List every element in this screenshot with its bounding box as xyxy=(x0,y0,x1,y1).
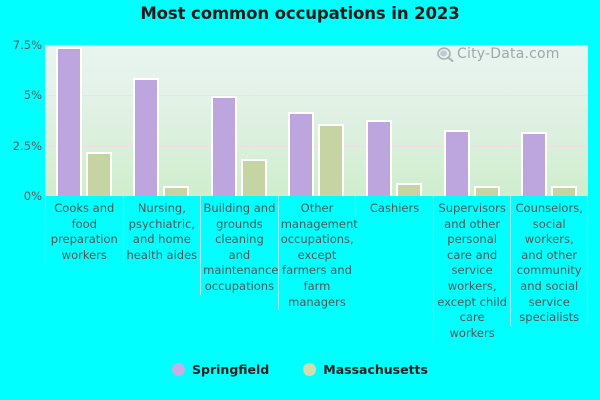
magnifier-icon xyxy=(437,47,454,62)
legend-swatch-icon xyxy=(172,363,185,376)
bar-massachusetts[interactable] xyxy=(551,186,577,196)
city-data-watermark: City-Data.com xyxy=(437,46,560,62)
y-axis-tick-label: 0% xyxy=(0,189,42,203)
chart-legend: SpringfieldMassachusetts xyxy=(0,362,600,377)
legend-swatch-icon xyxy=(303,363,316,376)
y-axis-tick-label: 7.5% xyxy=(0,38,42,52)
bar-springfield[interactable] xyxy=(366,120,392,197)
bar-group xyxy=(278,45,356,196)
bar-group xyxy=(123,45,201,196)
bar-group xyxy=(45,45,123,196)
x-axis-category-label: Cashiers xyxy=(355,196,433,217)
bar-springfield[interactable] xyxy=(211,96,237,196)
bar-springfield[interactable] xyxy=(521,132,547,196)
bar-springfield[interactable] xyxy=(56,47,82,196)
x-axis-categories: Cooks and food preparation workersNursin… xyxy=(45,196,588,346)
bar-massachusetts[interactable] xyxy=(163,186,189,196)
legend-item-massachusetts[interactable]: Massachusetts xyxy=(303,362,428,377)
x-axis-category-label: Nursing, psychiatric, and home health ai… xyxy=(123,196,201,263)
bar-massachusetts[interactable] xyxy=(474,186,500,196)
x-axis-category-label: Supervisors and other personal care and … xyxy=(433,196,511,341)
bar-springfield[interactable] xyxy=(133,78,159,196)
x-axis-category-label: Building and grounds cleaning and mainte… xyxy=(200,196,278,295)
plot-area xyxy=(45,45,588,196)
bar-massachusetts[interactable] xyxy=(241,159,267,196)
y-axis-tick-label: 2.5% xyxy=(0,139,42,153)
legend-label: Massachusetts xyxy=(323,362,428,377)
x-axis-category-label: Counselors, social workers, and other co… xyxy=(510,196,588,326)
y-axis: 7.5%5%2.5%0% xyxy=(0,45,42,196)
bar-massachusetts[interactable] xyxy=(396,183,422,196)
chart-title: Most common occupations in 2023 xyxy=(0,4,600,23)
bar-springfield[interactable] xyxy=(288,112,314,196)
x-axis-category-label: Cooks and food preparation workers xyxy=(45,196,123,263)
bar-group xyxy=(433,45,511,196)
bar-massachusetts[interactable] xyxy=(318,124,344,196)
y-axis-tick-label: 5% xyxy=(0,88,42,102)
watermark-text: City-Data.com xyxy=(457,46,560,62)
bar-massachusetts[interactable] xyxy=(86,152,112,196)
bar-springfield[interactable] xyxy=(444,130,470,196)
x-axis-category-label: Other management occupations, except far… xyxy=(278,196,356,310)
occupations-bar-chart: Most common occupations in 2023 7.5%5%2.… xyxy=(0,0,600,400)
bar-group xyxy=(200,45,278,196)
legend-label: Springfield xyxy=(192,362,269,377)
bar-group xyxy=(355,45,433,196)
legend-item-springfield[interactable]: Springfield xyxy=(172,362,269,377)
bar-group xyxy=(510,45,588,196)
